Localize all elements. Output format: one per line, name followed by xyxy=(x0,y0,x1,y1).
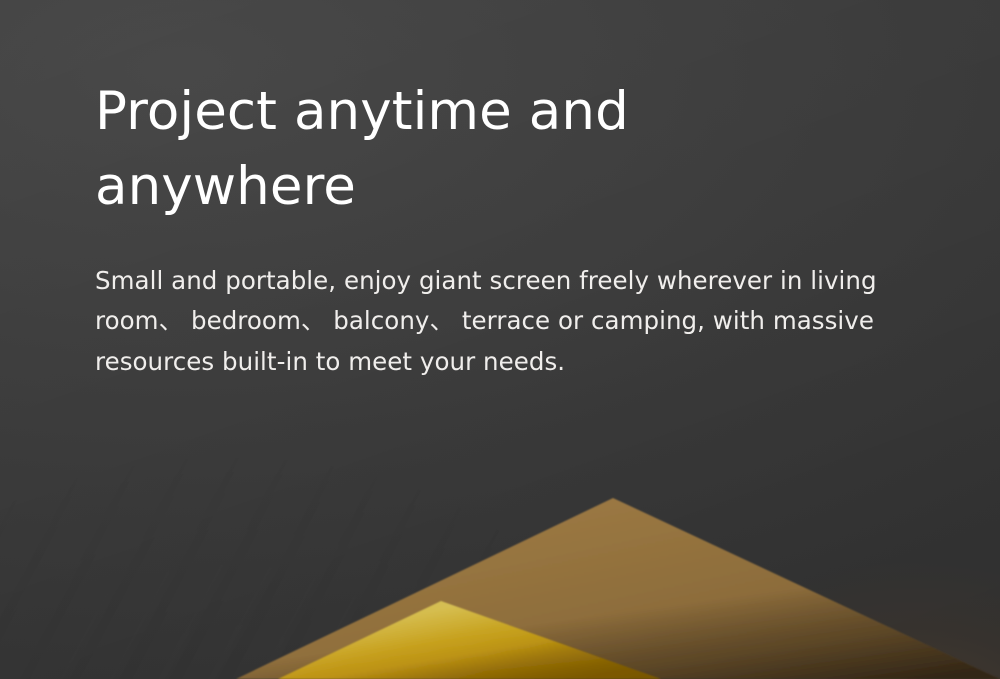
banner-copy: Project anytime and anywhere Small and p… xyxy=(95,74,955,382)
page-title: Project anytime and anywhere xyxy=(95,74,735,225)
promo-banner: Project anytime and anywhere Small and p… xyxy=(0,0,1000,679)
banner-description: Small and portable, enjoy giant screen f… xyxy=(95,225,940,383)
